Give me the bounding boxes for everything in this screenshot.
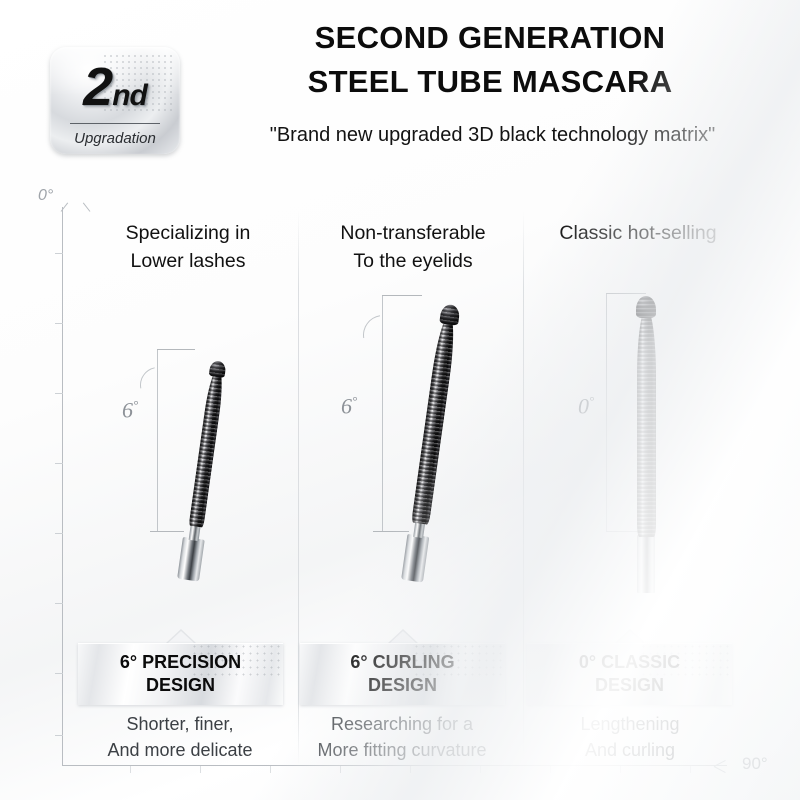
- degree-symbol: °: [352, 393, 357, 408]
- badge-number-suffix: nd: [112, 79, 147, 112]
- reference-cap-top: [157, 349, 195, 350]
- panel-heading: Specializing in Lower lashes: [78, 219, 298, 275]
- feature-title: 0° CLASSIC DESIGN: [527, 643, 732, 705]
- y-axis-tick: [55, 253, 63, 254]
- feature-caption-precision: Shorter, finer, And more delicate: [50, 711, 310, 763]
- degree-symbol: °: [589, 393, 594, 408]
- y-axis-tick: [55, 393, 63, 394]
- feature-caption-line-2: And curling: [500, 737, 760, 763]
- angle-label: 0°: [578, 393, 594, 419]
- badge-number: 2nd: [50, 50, 180, 133]
- feature-box-precision[interactable]: 6° PRECISION DESIGN: [78, 643, 283, 705]
- feature-caption-line-2: And more delicate: [50, 737, 310, 763]
- feature-title-line-1: 6° CURLING: [350, 651, 454, 674]
- angle-label: 6°: [122, 397, 138, 423]
- second-generation-badge: 2nd Upgradation: [50, 47, 180, 154]
- feature-caption-line-1: Researching for a: [272, 711, 532, 737]
- panel-classic-hot-selling: Classic hot-selling 0°: [528, 175, 748, 625]
- badge-divider: [70, 123, 160, 124]
- header: 2nd Upgradation SECOND GENERATION STEEL …: [0, 0, 800, 175]
- reference-cap-top: [382, 295, 422, 296]
- angle-arc: [355, 307, 411, 363]
- panel-heading: Classic hot-selling: [528, 219, 748, 247]
- mascara-wand: [391, 295, 472, 584]
- feature-title-line-2: DESIGN: [146, 674, 215, 697]
- panel-heading-line-2: To the eyelids: [303, 247, 523, 275]
- y-axis-tick: [55, 533, 63, 534]
- feature-title-line-1: 6° PRECISION: [120, 651, 241, 674]
- y-axis-tick: [55, 603, 63, 604]
- y-axis-tick: [55, 323, 63, 324]
- angle-value: 0: [578, 393, 589, 418]
- badge-sublabel: Upgradation: [50, 126, 180, 152]
- feature-caption-line-2: More fitting curvature: [272, 737, 532, 763]
- title-line-2: STEEL TUBE MASCARA: [190, 60, 790, 104]
- feature-title-line-1: 0° CLASSIC: [579, 651, 680, 674]
- feature-title: 6° PRECISION DESIGN: [78, 643, 283, 705]
- wand-brush-tip: [636, 296, 656, 318]
- panel-non-transferable: Non-transferable To the eyelids 6°: [303, 175, 523, 625]
- degree-symbol: °: [133, 397, 138, 412]
- y-axis-tick: [55, 463, 63, 464]
- page-subtitle: "Brand new upgraded 3D black technology …: [190, 124, 795, 147]
- panel-lower-lashes: Specializing in Lower lashes 6°: [78, 175, 298, 625]
- panel-heading-line-1: Specializing in: [78, 219, 298, 247]
- feature-box-curling[interactable]: 6° CURLING DESIGN: [300, 643, 505, 705]
- panel-heading-line-2: Lower lashes: [78, 247, 298, 275]
- feature-title-line-2: DESIGN: [595, 674, 664, 697]
- feature-highlights: 6° PRECISION DESIGN Shorter, finer, And …: [0, 625, 800, 800]
- panel-heading-line-1: Non-transferable: [303, 219, 523, 247]
- wand-ferrule: [637, 535, 655, 593]
- feature-caption-line-1: Lengthening: [500, 711, 760, 737]
- wand-ferrule: [401, 534, 429, 583]
- wand-brush-tip: [209, 360, 227, 378]
- pointer-triangle-icon: [388, 629, 418, 643]
- mascara-wand: [625, 293, 667, 593]
- angle-value: 6: [341, 393, 352, 418]
- panel-heading: Non-transferable To the eyelids: [303, 219, 523, 275]
- infographic-page: 2nd Upgradation SECOND GENERATION STEEL …: [0, 0, 800, 800]
- angle-comparison-chart: 0° 90° Specializing in Lower lashes: [0, 175, 800, 625]
- feature-title: 6° CURLING DESIGN: [300, 643, 505, 705]
- feature-caption-classic: Lengthening And curling: [500, 711, 760, 763]
- feature-box-classic[interactable]: 0° CLASSIC DESIGN: [527, 643, 732, 705]
- wand-brush: [188, 367, 225, 528]
- panel-heading-line-1: Classic hot-selling: [528, 219, 748, 247]
- wand-brush-tip: [439, 303, 461, 325]
- page-title: SECOND GENERATION STEEL TUBE MASCARA: [190, 16, 790, 104]
- badge-number-value: 2: [83, 57, 112, 117]
- feature-title-line-2: DESIGN: [368, 674, 437, 697]
- angle-arc: [133, 360, 183, 410]
- y-axis-label: 0°: [38, 187, 53, 205]
- feature-caption-curling: Researching for a More fitting curvature: [272, 711, 532, 763]
- mascara-wand: [168, 349, 240, 582]
- title-line-1: SECOND GENERATION: [190, 16, 790, 60]
- feature-caption-line-1: Shorter, finer,: [50, 711, 310, 737]
- angle-value: 6: [122, 397, 133, 422]
- wand-ferrule: [177, 537, 205, 582]
- y-axis-arrow-icon: [54, 201, 70, 214]
- pointer-triangle-icon: [166, 629, 196, 643]
- reference-line: [606, 293, 607, 531]
- pointer-triangle-icon: [615, 629, 645, 643]
- angle-label: 6°: [341, 393, 357, 419]
- wand-brush: [411, 314, 458, 524]
- wand-brush: [637, 309, 656, 537]
